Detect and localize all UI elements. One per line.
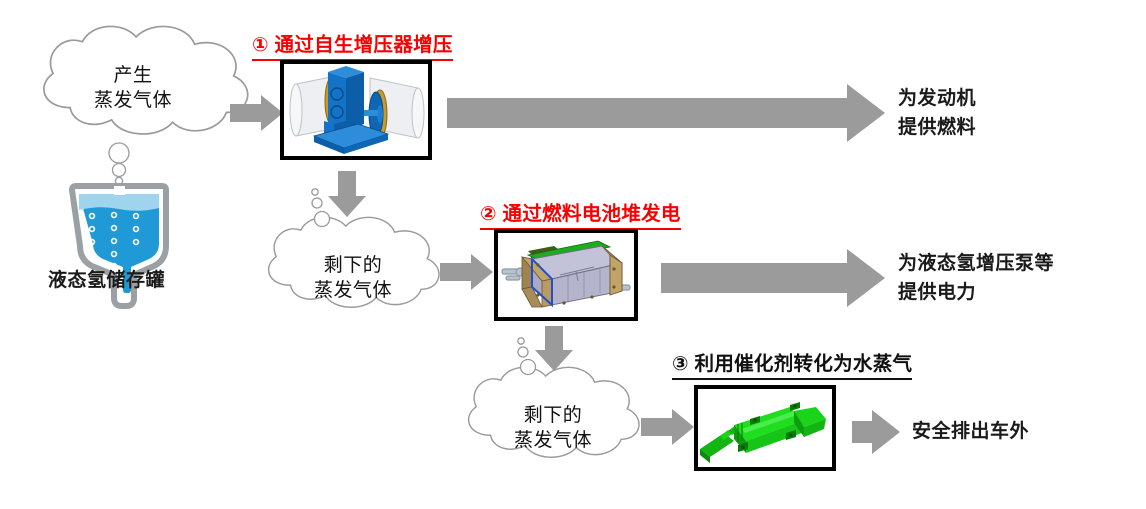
- arrow-catalyst-to-exhaust: [852, 410, 900, 454]
- arrow-fuelcell-to-power: [661, 249, 885, 307]
- residual-cloud-label-2: 剩下的 蒸发气体: [473, 403, 633, 453]
- residual-cloud-label-1: 剩下的 蒸发气体: [273, 253, 433, 303]
- catalytic-converter-image: [694, 385, 836, 471]
- arrow-cloud-to-fuelcell: [440, 254, 493, 290]
- bubble-trail-1: [312, 189, 330, 227]
- arrow-booster-to-residual-gas: [328, 171, 366, 217]
- fuel-cell-stack-image: [494, 229, 638, 321]
- arrow-cloud-to-catalyst: [641, 409, 694, 445]
- step-3-title: ③ 利用催化剂转化为水蒸气: [672, 347, 912, 380]
- bubble-trail-2: [518, 338, 536, 375]
- self-pressurizing-booster-image: [280, 60, 432, 160]
- arrow-fuelcell-to-residual-gas: [535, 326, 573, 371]
- step-1-output-label: 为发动机 提供燃料: [898, 84, 976, 142]
- source-cloud-label: 产生 蒸发气体: [48, 63, 218, 113]
- step-2-title: ② 通过燃料电池堆发电: [480, 197, 681, 230]
- diagram-canvas: 产生 蒸发气体 剩下的 蒸发气体 剩下的 蒸发气体 液态氢储存罐 ① 通过自生增…: [0, 0, 1146, 509]
- step-1-title: ① 通过自生增压器增压: [252, 28, 453, 61]
- tank-caption: 液态氢储存罐: [48, 265, 165, 292]
- step-2-output-label: 为液态氢增压泵等 提供电力: [898, 249, 1054, 307]
- step-3-output-label: 安全排出车外: [912, 417, 1029, 446]
- bubble-trail-source: [109, 143, 129, 185]
- arrow-booster-to-engine-fuel: [447, 84, 885, 142]
